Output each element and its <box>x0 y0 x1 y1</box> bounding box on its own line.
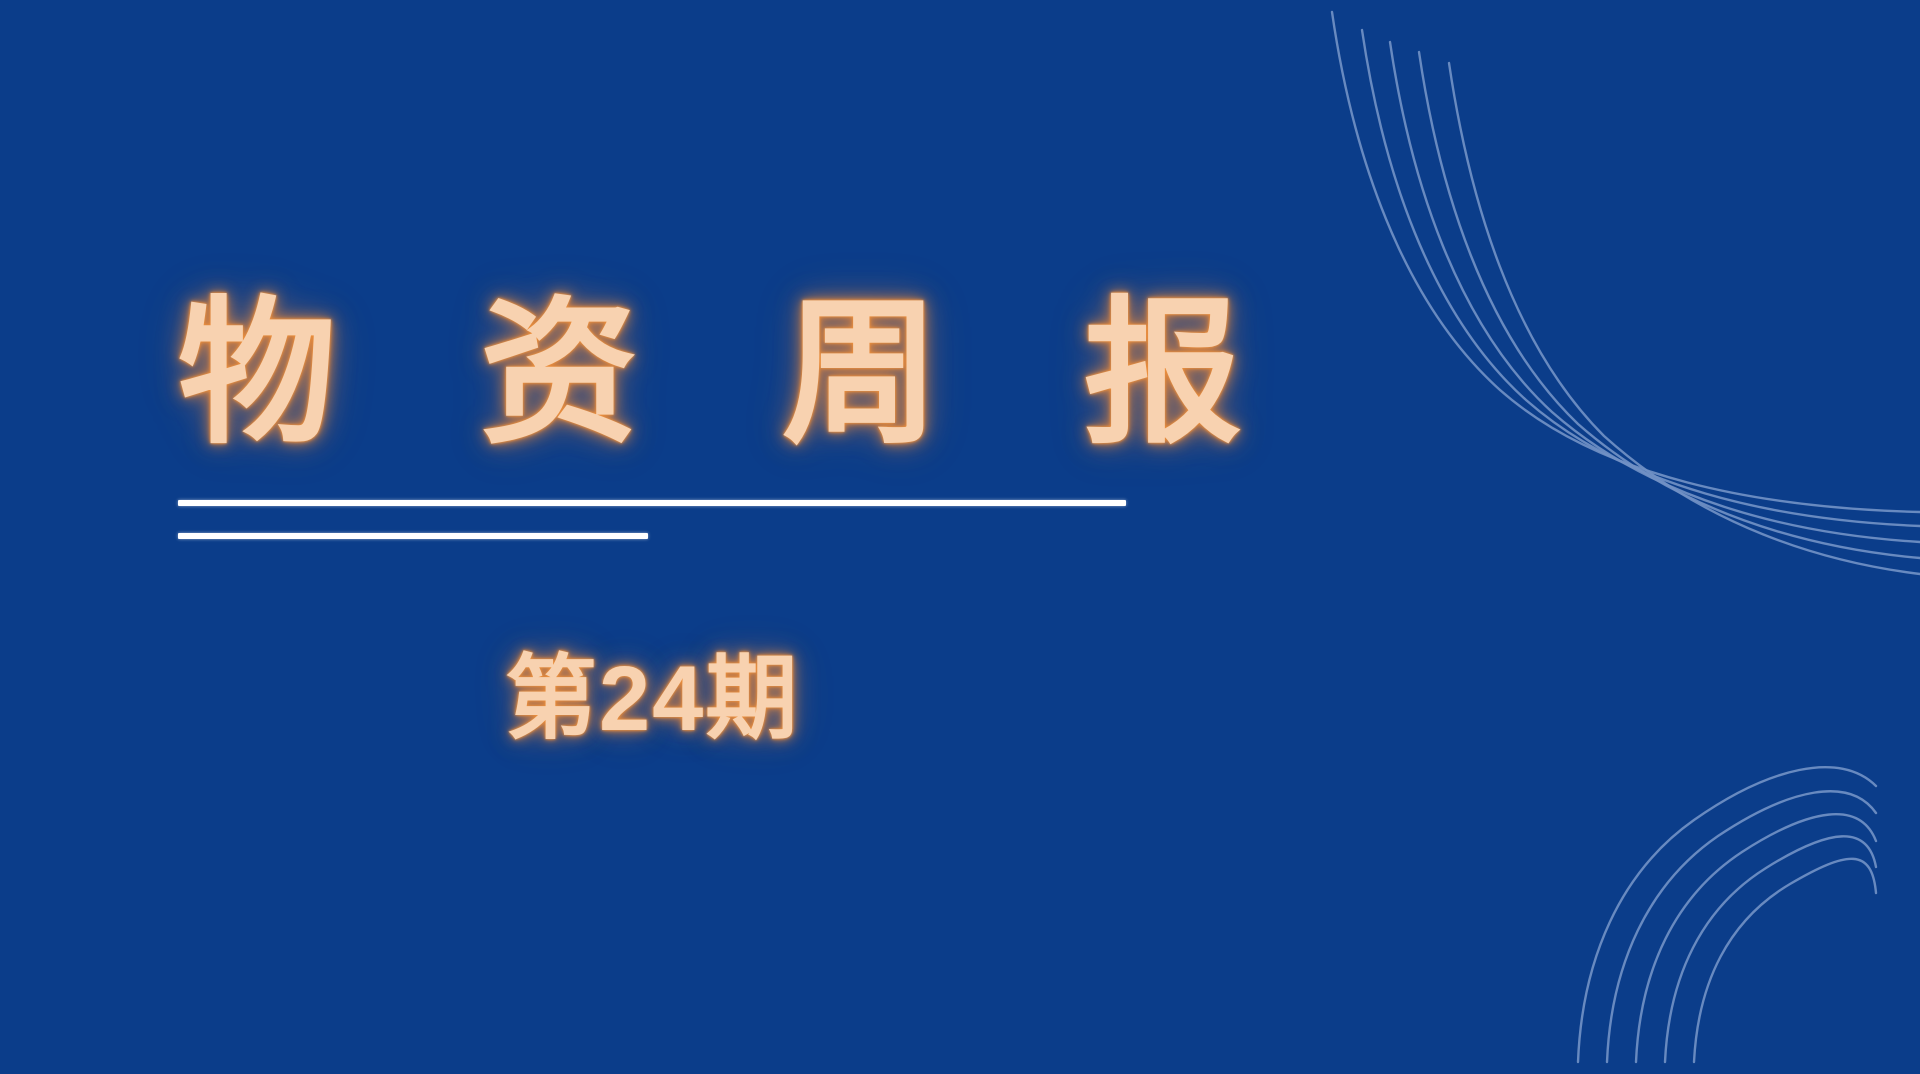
subtitle-block: 第24期 <box>505 645 799 754</box>
issue-subtitle: 第24期 <box>505 645 799 754</box>
divider-line-upper <box>178 500 1126 506</box>
title-dividers <box>178 500 1126 539</box>
curve-top-5 <box>1449 63 1920 574</box>
divider-line-lower <box>178 533 648 539</box>
curve-bottom-1 <box>1578 767 1876 1062</box>
curve-top-2 <box>1362 30 1920 526</box>
curve-bottom-2 <box>1607 791 1876 1062</box>
curve-top-3 <box>1390 42 1920 542</box>
curve-bottom-4 <box>1665 836 1876 1062</box>
curve-top-4 <box>1419 52 1920 558</box>
curve-top-1 <box>1332 12 1920 512</box>
page-title: 物 资 周 报 <box>178 286 1178 463</box>
title-slide: 物 资 周 报 第24期 <box>0 0 1920 1074</box>
curve-bottom-3 <box>1636 814 1876 1062</box>
title-block: 物 资 周 报 <box>178 286 1178 463</box>
curve-bottom-5 <box>1694 859 1876 1062</box>
